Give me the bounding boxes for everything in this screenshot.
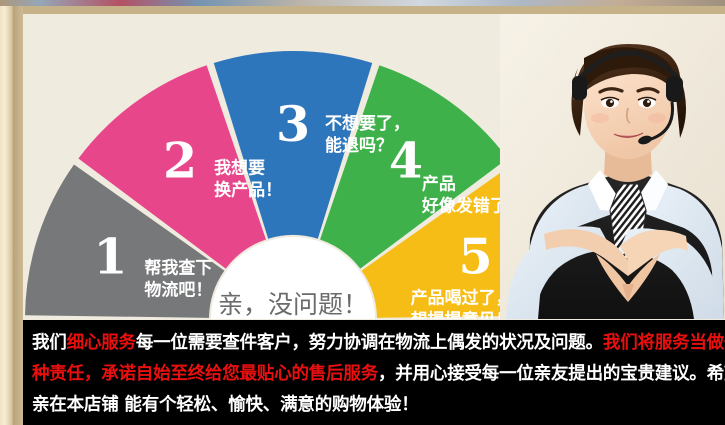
fan-segment-number-5: 5 bbox=[459, 228, 493, 286]
fan-segment-number-1: 1 bbox=[93, 228, 127, 286]
fan-chart-svg: 1帮我查下物流吧！2我想要换产品！3不想要了，能退吗？4产品好像发错了！5产品喝… bbox=[23, 14, 563, 319]
msg-l2-run-2: ，并用心接受每一位亲友提出的宝贵建议。希望 bbox=[378, 364, 725, 384]
fan-segment-caption-5-2: 想提提意见！ bbox=[411, 310, 513, 319]
fan-hub-label: 亲，没问题！ bbox=[218, 290, 368, 319]
fan-segment-caption-1-1: 帮我查下 bbox=[144, 258, 212, 279]
banner-canvas: 1帮我查下物流吧！2我想要换产品！3不想要了，能退吗？4产品好像发错了！5产品喝… bbox=[23, 14, 725, 425]
promise-line-3: 亲在本店铺 能有个轻松、愉快、满意的购物体验！ bbox=[32, 391, 722, 416]
frame-left-shadow bbox=[13, 6, 23, 425]
fan-segment-caption-3-2: 能退吗？ bbox=[325, 135, 393, 156]
msg-l3-run-1: 亲在本店铺 能有个轻松、愉快、满意的购物体验！ bbox=[32, 395, 419, 415]
fan-segment-number-3: 3 bbox=[276, 95, 310, 153]
fan-segment-number-2: 2 bbox=[163, 132, 197, 190]
fan-segment-caption-5-1: 产品喝过了， bbox=[411, 288, 513, 309]
fan-segment-caption-2-2: 换产品！ bbox=[214, 180, 282, 201]
fan-segment-number-4: 4 bbox=[389, 132, 423, 190]
fan-segment-caption-1-2: 物流吧！ bbox=[144, 280, 212, 301]
promise-line-1: 我们细心服务每一位需要查件客户，努力协调在物流上偶发的状况及问题。我们将服务当做… bbox=[32, 329, 722, 354]
service-fan-chart: 1帮我查下物流吧！2我想要换产品！3不想要了，能退吗？4产品好像发错了！5产品喝… bbox=[23, 14, 563, 319]
promo-banner: 1帮我查下物流吧！2我想要换产品！3不想要了，能退吗？4产品好像发错了！5产品喝… bbox=[0, 0, 725, 425]
msg-l1-run-3: 每一位需要查件客户，努力协调在物流上偶发的状况及问题。 bbox=[136, 333, 603, 353]
frame-left-highlight bbox=[0, 6, 13, 425]
msg-l1-run-4: 我们将服务当做一 bbox=[603, 333, 725, 353]
msg-l1-run-2: 细心服务 bbox=[67, 333, 136, 353]
msg-l1-run-1: 我们 bbox=[32, 333, 67, 353]
service-promise-panel: 我们细心服务每一位需要查件客户，努力协调在物流上偶发的状况及问题。我们将服务当做… bbox=[23, 320, 725, 425]
agent-photo bbox=[500, 14, 725, 319]
msg-l2-run-1: 种责任，承诺自始至终给您最贴心的售后服务 bbox=[32, 364, 378, 384]
promise-line-2: 种责任，承诺自始至终给您最贴心的售后服务，并用心接受每一位亲友提出的宝贵建议。希… bbox=[32, 360, 722, 385]
agent-photo-svg bbox=[500, 14, 725, 319]
fan-segment-caption-2-1: 我想要 bbox=[214, 158, 265, 179]
fan-segment-caption-4-1: 产品 bbox=[422, 174, 456, 195]
